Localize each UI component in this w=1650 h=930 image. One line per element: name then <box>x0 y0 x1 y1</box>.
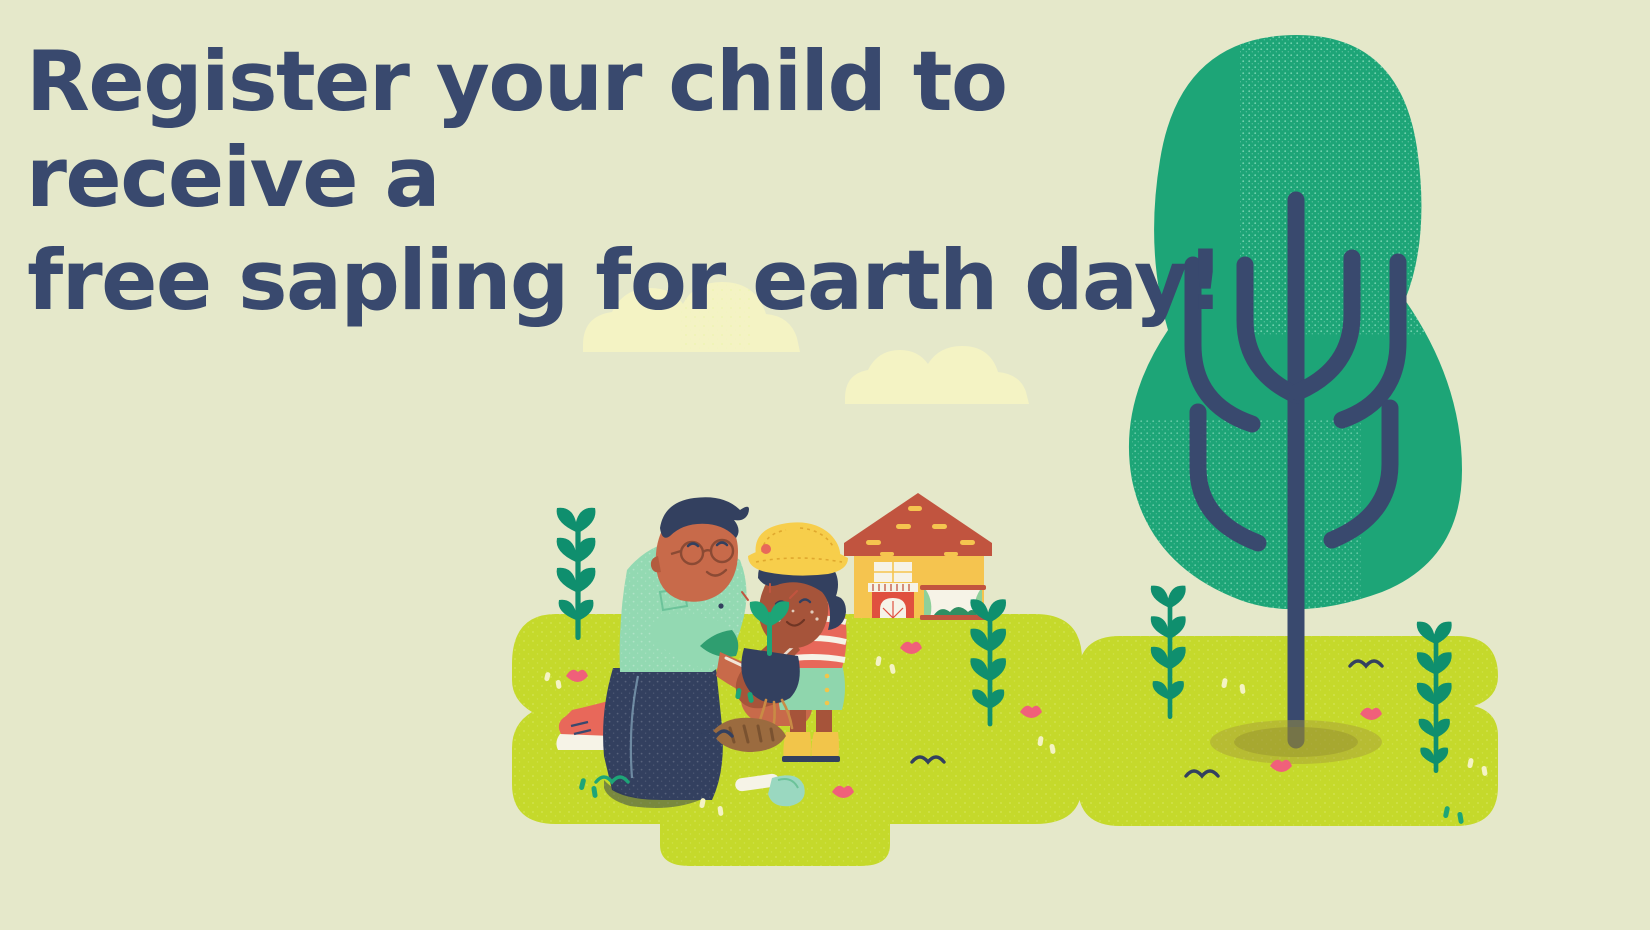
girl-boot <box>783 732 811 760</box>
headline-line-2: free sapling for earth day! <box>0 233 1250 329</box>
boot-sole <box>810 756 840 762</box>
tree-soil-patch <box>1210 720 1382 764</box>
headline-line-1: Register your child to receive a <box>0 34 1250 227</box>
window-awning <box>920 585 986 590</box>
earth-day-banner: Register your child to receive a free sa… <box>0 0 1650 930</box>
girl-boot <box>811 732 839 760</box>
boot-sole <box>782 756 812 762</box>
railing-bar <box>873 584 909 591</box>
page-title: Register your child to receive a free sa… <box>0 34 1250 329</box>
house <box>844 493 992 620</box>
hat-pompom <box>761 544 771 554</box>
window-box <box>920 615 986 620</box>
balcony-railing <box>868 583 918 592</box>
house-roof <box>844 493 992 556</box>
trowel <box>734 773 804 806</box>
